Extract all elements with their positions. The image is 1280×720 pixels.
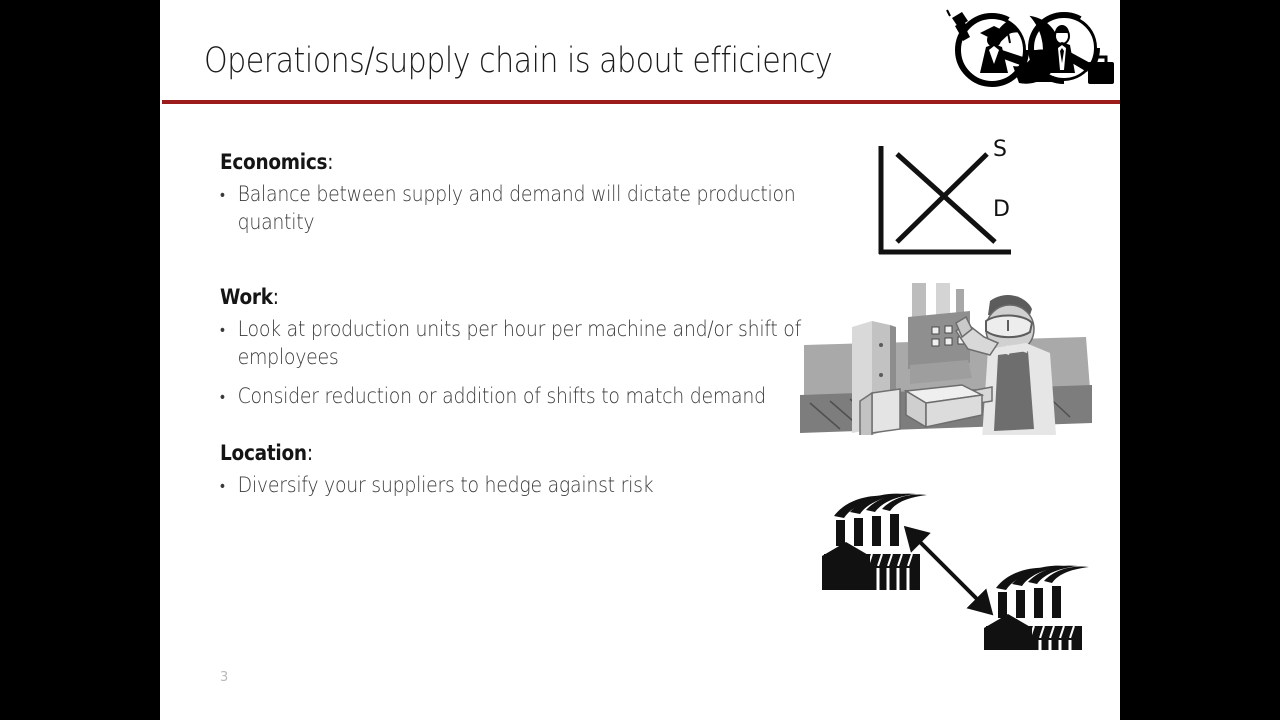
- spacer: [220, 465, 854, 472]
- section-heading-economics-text: Economics: [220, 150, 327, 174]
- spacer: [220, 309, 854, 316]
- double-headed-arrow: [918, 540, 982, 604]
- section-heading-location-text: Location: [220, 441, 307, 465]
- title-divider-rule: [162, 100, 1120, 104]
- section-heading-work-colon: :: [273, 285, 279, 309]
- section-economics: Economics: • Balance between supply and …: [220, 150, 854, 238]
- list-item-text: Look at production units per hour per ma…: [238, 316, 854, 373]
- factory-lower-right: [984, 566, 1089, 650]
- section-heading-location-colon: :: [307, 441, 313, 465]
- list-item: • Look at production units per hour per …: [220, 316, 854, 373]
- letterbox-right: [1120, 0, 1280, 720]
- section-heading-work: Work:: [220, 285, 854, 309]
- list-item-text: Balance between supply and demand will d…: [238, 181, 854, 238]
- c2c-logo: 2: [930, 0, 1120, 100]
- section-heading-economics-colon: :: [327, 150, 333, 174]
- list-item: • Diversify your suppliers to hedge agai…: [220, 472, 854, 500]
- bullet-point-icon: •: [220, 472, 238, 500]
- two-factories-with-arrow: [810, 482, 1100, 650]
- letterbox-left: [0, 0, 160, 720]
- screen: Operations/supply chain is about efficie…: [0, 0, 1280, 720]
- section-heading-economics: Economics:: [220, 150, 854, 174]
- slide-number: 3: [220, 670, 228, 685]
- bullet-point-icon: •: [220, 383, 238, 411]
- spacer: [220, 174, 854, 181]
- list-item-text: Consider reduction or addition of shifts…: [238, 383, 854, 411]
- factory-upper-left: [822, 494, 927, 590]
- bullet-point-icon: •: [220, 316, 238, 373]
- section-work: Work: • Look at production units per hou…: [220, 285, 854, 411]
- section-heading-location: Location:: [220, 441, 854, 465]
- logo-digit: 2: [1027, 42, 1058, 93]
- factory-worker-illustration: [800, 283, 1092, 435]
- spacer: [220, 373, 854, 383]
- list-item-text: Diversify your suppliers to hedge agains…: [238, 472, 854, 500]
- slide-canvas: Operations/supply chain is about efficie…: [160, 0, 1120, 720]
- supply-demand-chart: S D: [865, 132, 1025, 272]
- demand-curve-label: D: [993, 197, 1010, 222]
- section-heading-work-text: Work: [220, 285, 273, 309]
- supply-curve-label: S: [993, 137, 1007, 162]
- list-item: • Consider reduction or addition of shif…: [220, 383, 854, 411]
- bullet-point-icon: •: [220, 181, 238, 238]
- list-item: • Balance between supply and demand will…: [220, 181, 854, 238]
- page-title: Operations/supply chain is about efficie…: [204, 44, 866, 79]
- section-location: Location: • Diversify your suppliers to …: [220, 441, 854, 500]
